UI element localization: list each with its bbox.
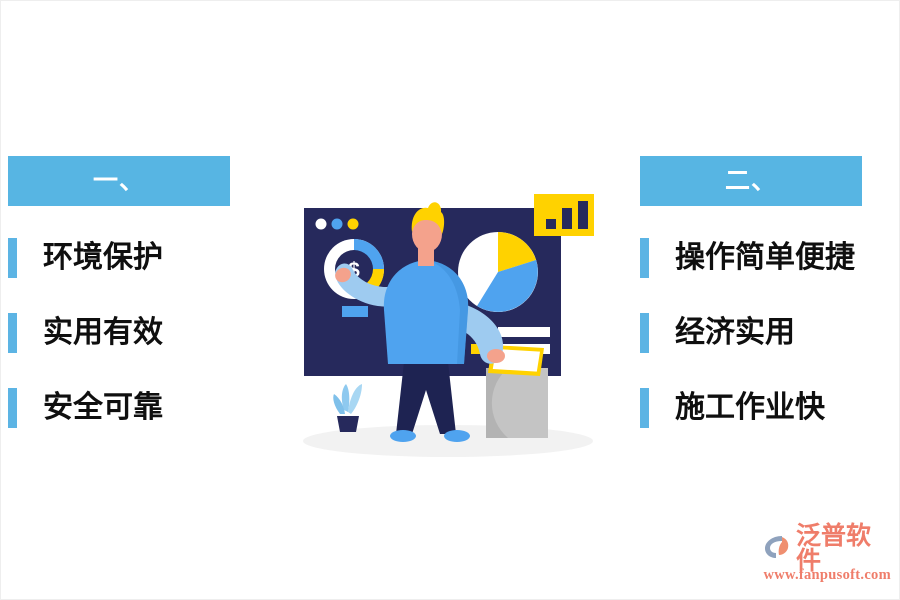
bullet-bar-icon	[8, 238, 17, 278]
potted-plant-icon	[333, 384, 362, 432]
person-legs	[396, 362, 456, 434]
pedestal-prop	[486, 368, 548, 438]
list-item[interactable]: 实用有效	[8, 310, 230, 356]
bullet-bar-icon	[640, 388, 649, 428]
column-header-left: 一、	[8, 156, 230, 206]
feature-label: 施工作业快	[675, 393, 825, 423]
bar-chart-badge-icon	[534, 194, 594, 236]
window-dot-icon	[348, 219, 359, 230]
feature-column-left: 一、 环境保护 实用有效 安全可靠	[8, 156, 230, 431]
bullet-bar-icon	[8, 313, 17, 353]
fanpu-logo-icon	[763, 533, 793, 566]
analytics-dashboard-illustration: $	[296, 186, 606, 471]
window-dot-icon	[316, 219, 327, 230]
person-shoe-icon	[390, 430, 416, 442]
feature-label: 经济实用	[675, 318, 795, 348]
screen-bar-widget	[342, 306, 368, 317]
pie-chart-icon	[458, 232, 538, 312]
list-item[interactable]: 施工作业快	[640, 385, 862, 431]
list-item[interactable]: 环境保护	[8, 235, 230, 281]
list-item[interactable]: 操作简单便捷	[640, 235, 862, 281]
bullet-bar-icon	[640, 313, 649, 353]
feature-label: 实用有效	[43, 318, 163, 348]
feature-label: 操作简单便捷	[675, 243, 855, 273]
feature-label: 环境保护	[43, 243, 163, 273]
feature-list-left: 环境保护 实用有效 安全可靠	[8, 235, 230, 431]
person-shoe-icon	[444, 430, 470, 442]
logo-url: www.fanpusoft.com	[763, 567, 891, 584]
feature-column-right: 二、 操作简单便捷 经济实用 施工作业快	[640, 156, 862, 431]
feature-label: 安全可靠	[43, 393, 163, 423]
list-item[interactable]: 安全可靠	[8, 385, 230, 431]
slide-canvas: 一、 环境保护 实用有效 安全可靠 二、 操作简单便捷	[0, 0, 900, 600]
brand-watermark: 泛普软件 www.fanpusoft.com	[763, 533, 891, 585]
legend-bar	[498, 327, 550, 337]
person-hand-icon	[487, 349, 505, 363]
window-dot-icon	[332, 219, 343, 230]
bullet-bar-icon	[640, 238, 649, 278]
feature-list-right: 操作简单便捷 经济实用 施工作业快	[640, 235, 862, 431]
bullet-bar-icon	[8, 388, 17, 428]
column-header-right: 二、	[640, 156, 862, 206]
list-item[interactable]: 经济实用	[640, 310, 862, 356]
